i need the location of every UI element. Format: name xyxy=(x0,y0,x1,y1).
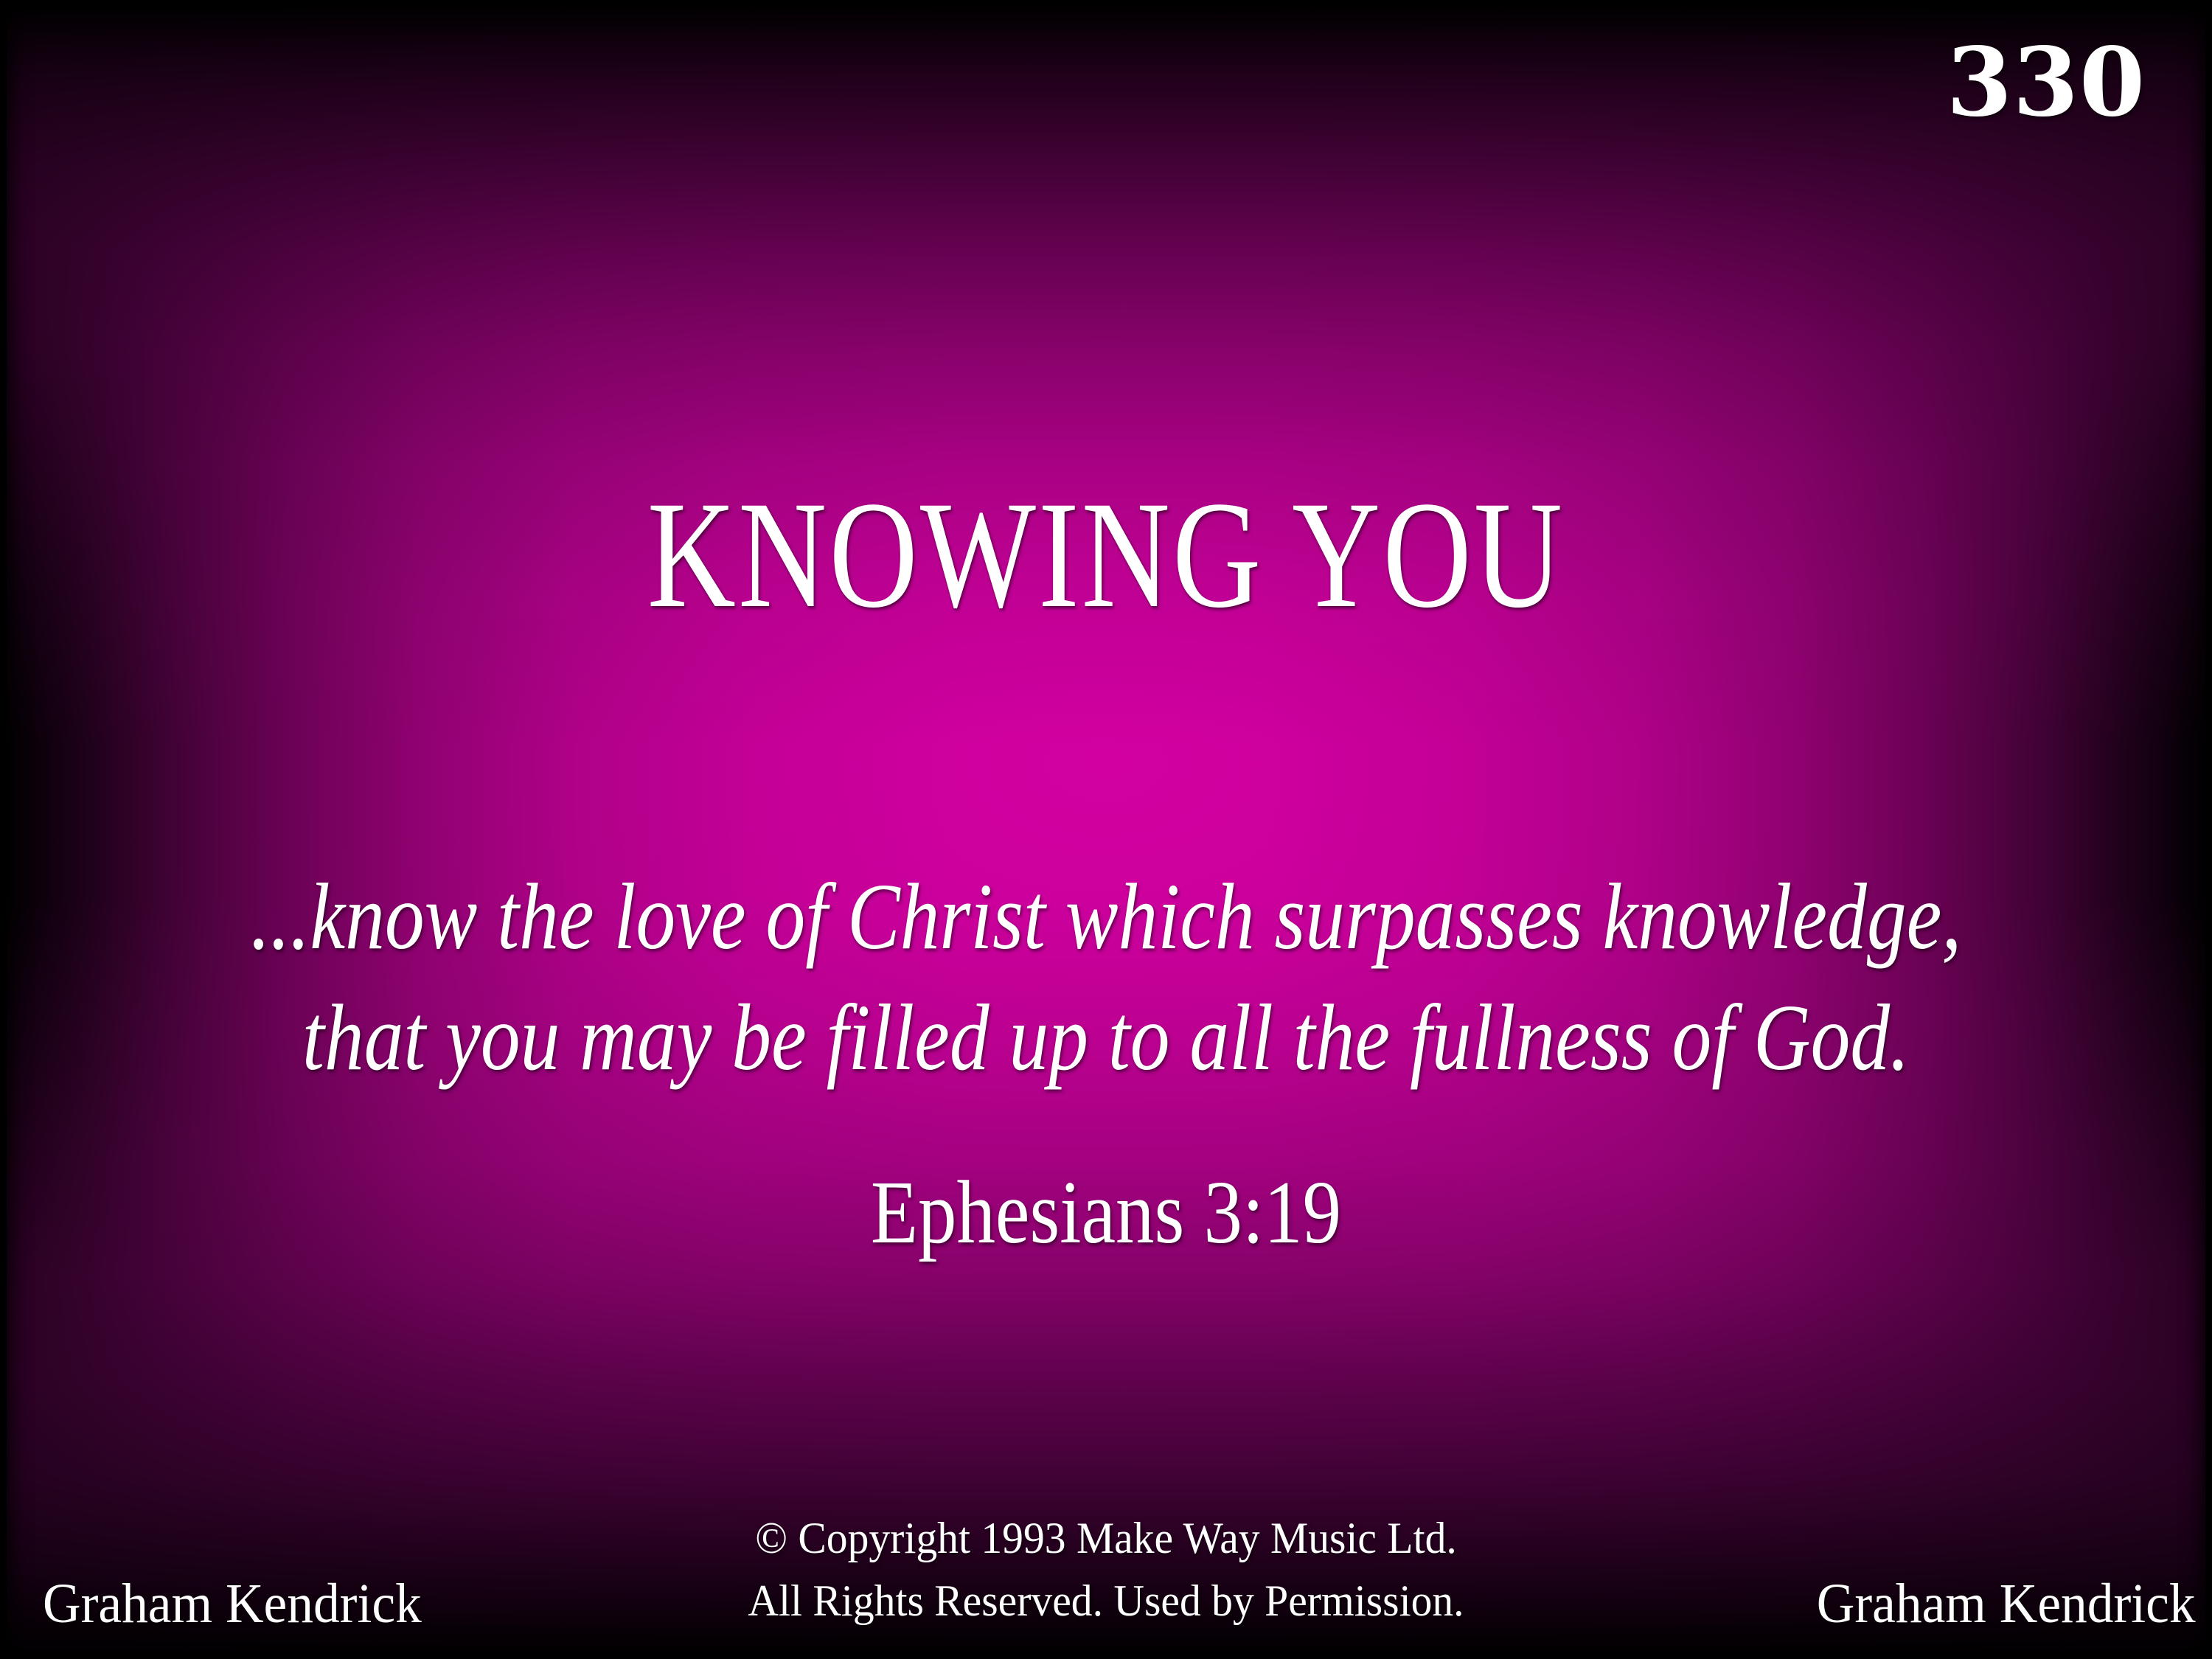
scripture-reference: Ephesians 3:19 xyxy=(155,1164,2057,1262)
scripture-line-2: that you may be filled up to all the ful… xyxy=(177,978,2035,1099)
scripture-passage: ...know the love of Christ which surpass… xyxy=(177,857,2035,1099)
hymn-number: 330 xyxy=(1947,35,2146,130)
footer-author-right: Graham Kendrick xyxy=(1817,1575,2196,1634)
hymn-slide: 330 KNOWING YOU ...know the love of Chri… xyxy=(0,0,2212,1659)
scripture-line-1: ...know the love of Christ which surpass… xyxy=(177,857,2035,978)
song-title: KNOWING YOU xyxy=(221,478,1991,631)
copyright-line-1: © Copyright 1993 Make Way Music Ltd. xyxy=(44,1507,2168,1570)
